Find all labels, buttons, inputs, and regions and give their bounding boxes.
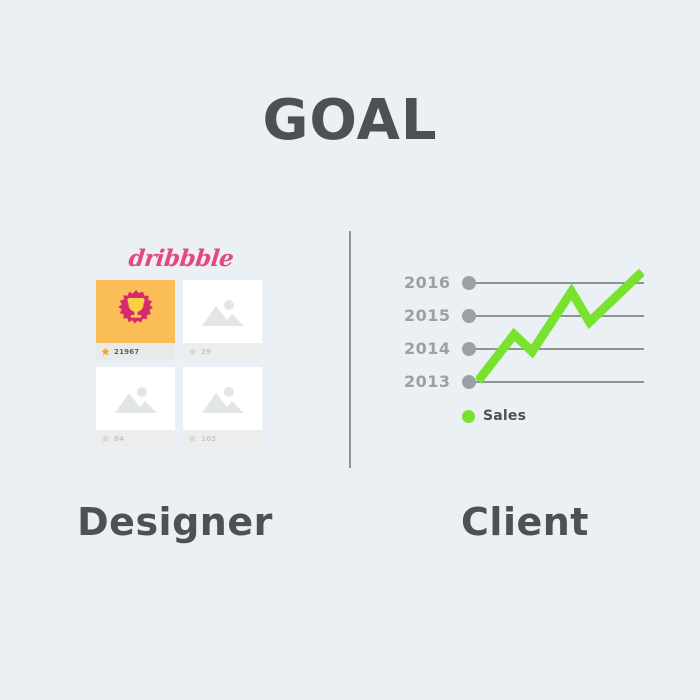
shot-thumbnail[interactable] (183, 367, 262, 430)
like-count: 21967 (114, 348, 139, 356)
image-placeholder-icon (200, 295, 246, 329)
shot-meta: 103 (183, 430, 262, 447)
year-label: 2016 (404, 273, 450, 292)
illustration-canvas: GOAL dribbble (0, 0, 700, 700)
shot-card[interactable]: 84 (96, 367, 175, 447)
year-label: 2013 (404, 372, 450, 391)
shot-meta: 84 (96, 430, 175, 447)
like-count: 84 (114, 435, 124, 443)
shot-meta: 21967 (96, 343, 175, 360)
caption-designer: Designer (0, 500, 350, 544)
shot-card[interactable]: 103 (183, 367, 262, 447)
like-count: 29 (201, 348, 211, 356)
row-gridline (474, 315, 644, 317)
chart-row: 2015 (404, 299, 644, 332)
trophy-badge-icon (113, 289, 159, 335)
year-label: 2014 (404, 339, 450, 358)
caption-client: Client (350, 500, 700, 544)
dribbble-logo: dribbble (94, 244, 267, 274)
row-dot (462, 375, 476, 389)
star-icon (188, 347, 197, 356)
shot-thumbnail[interactable] (183, 280, 262, 343)
year-label: 2015 (404, 306, 450, 325)
page-title: GOAL (0, 88, 700, 153)
image-placeholder-icon (113, 382, 159, 416)
shot-card[interactable]: 29 (183, 280, 262, 360)
chart-row: 2014 (404, 332, 644, 365)
shot-thumbnail[interactable] (96, 280, 175, 343)
legend-dot-sales (462, 410, 475, 423)
legend-label-sales: Sales (483, 408, 526, 424)
shot-thumbnail[interactable] (96, 367, 175, 430)
star-icon (101, 434, 110, 443)
row-gridline (474, 348, 644, 350)
sales-chart: 2016 2015 2014 2013 (404, 266, 644, 398)
shot-grid: 21967 29 (96, 280, 266, 447)
row-gridline (474, 282, 644, 284)
designer-panel: dribbble (96, 244, 266, 447)
chart-legend: Sales (404, 408, 644, 424)
vertical-divider (349, 231, 351, 468)
star-icon (188, 434, 197, 443)
row-dot (462, 309, 476, 323)
image-placeholder-icon (200, 382, 246, 416)
chart-row: 2016 (404, 266, 644, 299)
client-panel: 2016 2015 2014 2013 (404, 266, 644, 431)
row-dot (462, 276, 476, 290)
row-dot (462, 342, 476, 356)
star-icon (101, 347, 110, 356)
shot-meta: 29 (183, 343, 262, 360)
chart-row: 2013 (404, 365, 644, 398)
like-count: 103 (201, 435, 216, 443)
shot-card[interactable]: 21967 (96, 280, 175, 360)
row-gridline (474, 381, 644, 383)
